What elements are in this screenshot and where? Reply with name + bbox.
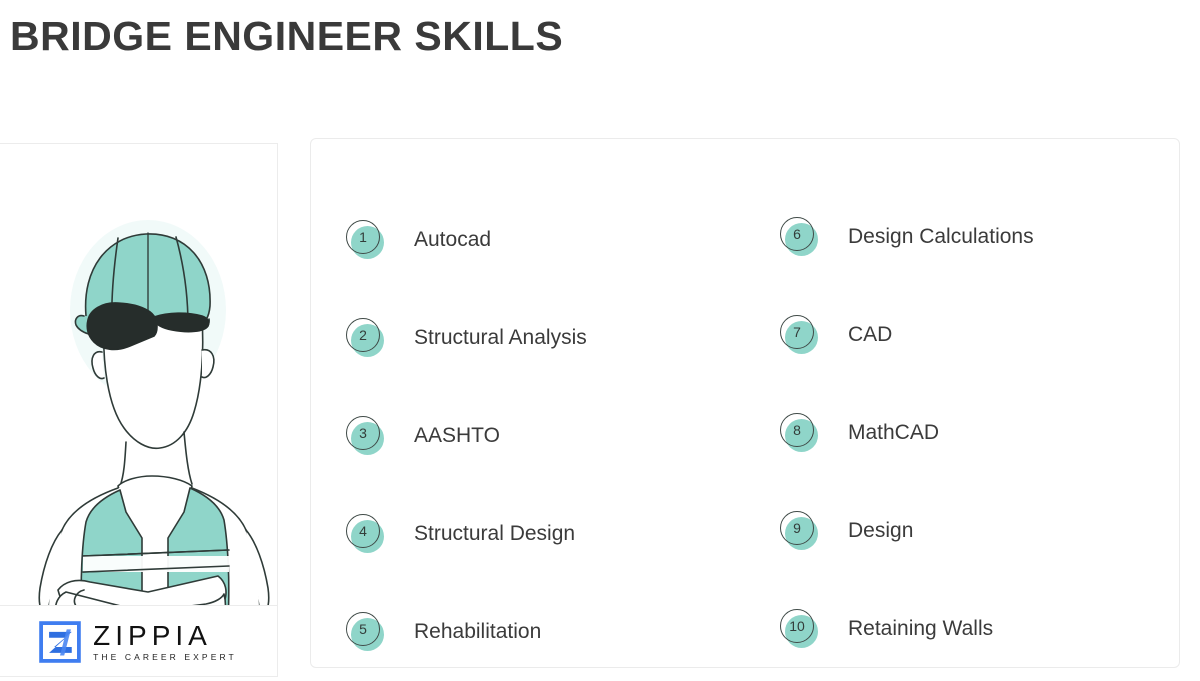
skill-number-badge: 7 bbox=[780, 315, 820, 355]
badge-number: 8 bbox=[780, 413, 814, 447]
skill-label: CAD bbox=[848, 322, 892, 347]
skill-label: MathCAD bbox=[848, 420, 939, 445]
engineer-figure-svg bbox=[0, 144, 278, 605]
skill-item-4[interactable]: 4 Structural Design bbox=[311, 485, 745, 583]
skill-number-badge: 3 bbox=[346, 416, 386, 456]
illustration-card: ZIPPIA THE CAREER EXPERT bbox=[0, 143, 278, 677]
badge-number: 1 bbox=[346, 220, 380, 254]
skill-item-2[interactable]: 2 Structural Analysis bbox=[311, 289, 745, 387]
skill-label: Retaining Walls bbox=[848, 616, 993, 641]
skill-item-9[interactable]: 9 Design bbox=[745, 482, 1179, 580]
badge-number: 3 bbox=[346, 416, 380, 450]
skill-label: Autocad bbox=[414, 227, 491, 252]
skill-label: Design Calculations bbox=[848, 224, 1034, 249]
badge-number: 2 bbox=[346, 318, 380, 352]
skill-number-badge: 1 bbox=[346, 220, 386, 260]
skill-label: Design bbox=[848, 518, 913, 543]
skill-item-3[interactable]: 3 AASHTO bbox=[311, 387, 745, 485]
skills-column-left: 1 Autocad 2 Structural Analysis 3 AAS bbox=[311, 139, 745, 667]
page-title: BRIDGE ENGINEER SKILLS bbox=[10, 14, 563, 59]
skill-item-8[interactable]: 8 MathCAD bbox=[745, 384, 1179, 482]
badge-number: 7 bbox=[780, 315, 814, 349]
zippia-logo[interactable]: ZIPPIA THE CAREER EXPERT bbox=[0, 606, 278, 677]
skill-label: Structural Design bbox=[414, 521, 575, 546]
skill-number-badge: 10 bbox=[780, 609, 820, 649]
skill-item-7[interactable]: 7 CAD bbox=[745, 286, 1179, 384]
zippia-logo-text: ZIPPIA THE CAREER EXPERT bbox=[93, 622, 237, 662]
skill-label: Rehabilitation bbox=[414, 619, 541, 644]
skill-number-badge: 8 bbox=[780, 413, 820, 453]
skill-number-badge: 6 bbox=[780, 217, 820, 257]
skill-item-5[interactable]: 5 Rehabilitation bbox=[311, 583, 745, 681]
skill-number-badge: 5 bbox=[346, 612, 386, 652]
zippia-z-mark-icon bbox=[39, 621, 81, 663]
bridge-engineer-illustration bbox=[0, 144, 278, 605]
skill-item-6[interactable]: 6 Design Calculations bbox=[745, 188, 1179, 286]
skill-number-badge: 2 bbox=[346, 318, 386, 358]
skill-label: AASHTO bbox=[414, 423, 500, 448]
badge-number: 10 bbox=[780, 609, 814, 643]
skills-columns: 1 Autocad 2 Structural Analysis 3 AAS bbox=[311, 139, 1179, 667]
badge-number: 9 bbox=[780, 511, 814, 545]
skills-column-right: 6 Design Calculations 7 CAD 8 MathCAD bbox=[745, 139, 1179, 667]
badge-number: 4 bbox=[346, 514, 380, 548]
zippia-tagline: THE CAREER EXPERT bbox=[93, 653, 237, 662]
skills-card: 1 Autocad 2 Structural Analysis 3 AAS bbox=[310, 138, 1180, 668]
badge-number: 5 bbox=[346, 612, 380, 646]
badge-number: 6 bbox=[780, 217, 814, 251]
skill-item-1[interactable]: 1 Autocad bbox=[311, 191, 745, 289]
skill-item-10[interactable]: 10 Retaining Walls bbox=[745, 580, 1179, 678]
skill-number-badge: 9 bbox=[780, 511, 820, 551]
zippia-wordmark: ZIPPIA bbox=[93, 622, 212, 650]
skill-number-badge: 4 bbox=[346, 514, 386, 554]
skill-label: Structural Analysis bbox=[414, 325, 587, 350]
